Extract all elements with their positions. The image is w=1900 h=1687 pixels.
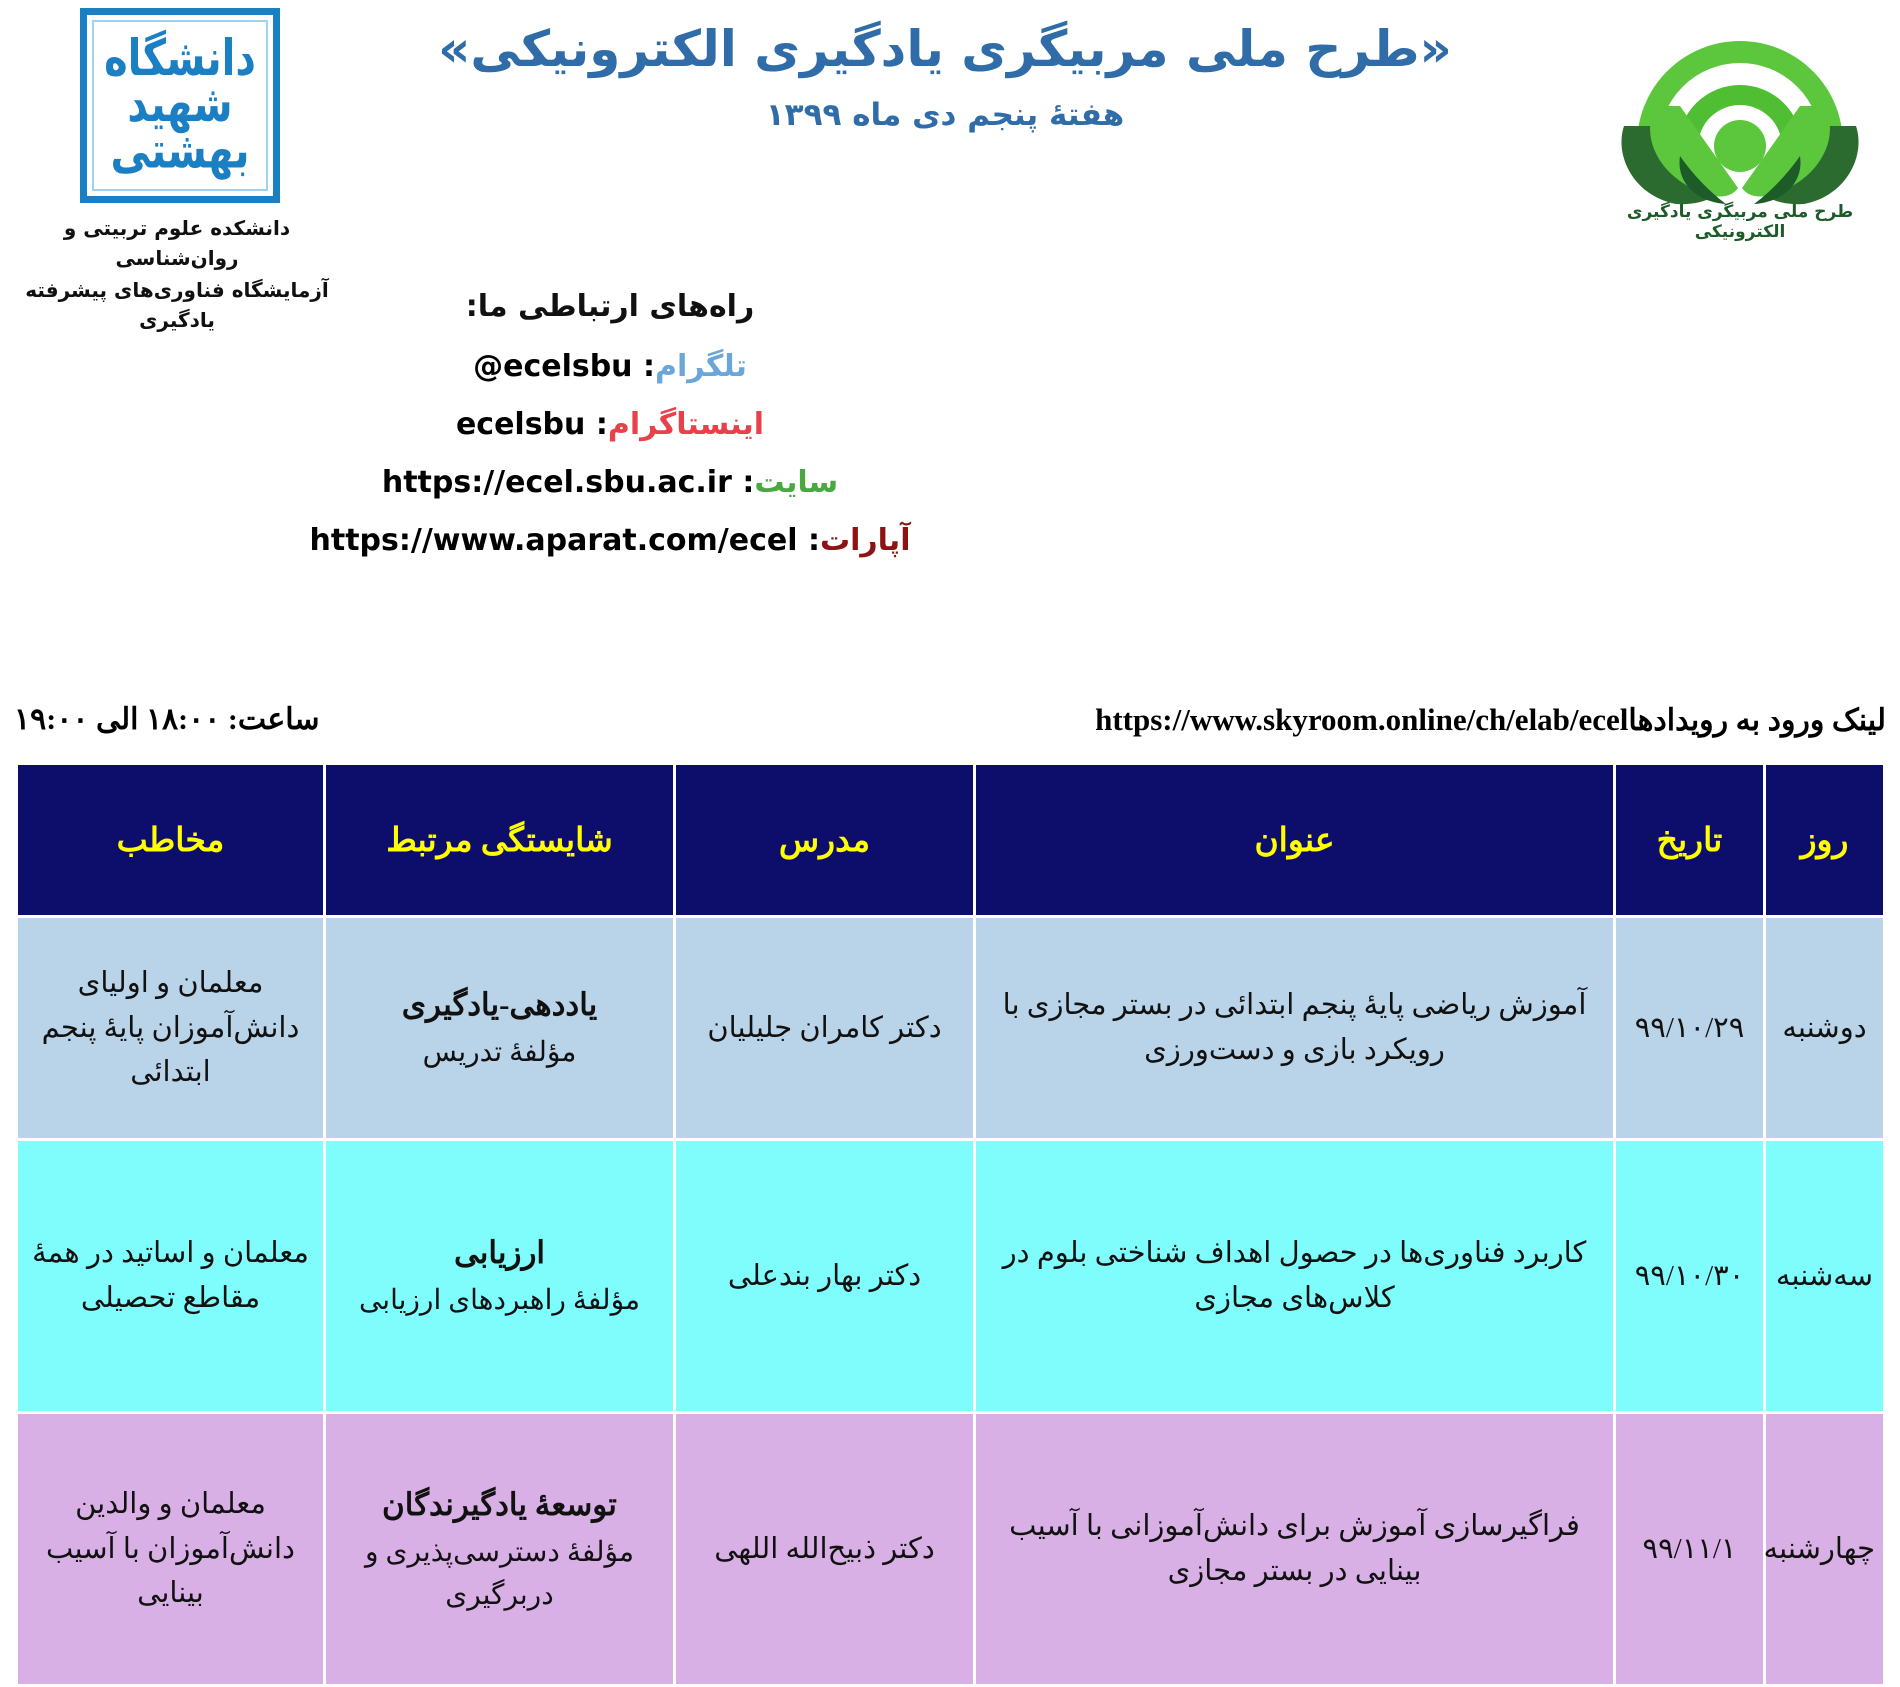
contact-row-instagram: اینستاگرام: ecelsbu <box>0 410 1220 440</box>
competency-main: توسعهٔ یادگیرندگان <box>334 1481 665 1529</box>
contact-row-telegram: تلگرام: @ecelsbu <box>0 352 1220 382</box>
contact-block: راه‌های ارتباطی ما: تلگرام: @ecelsbu این… <box>0 292 1220 584</box>
contact-separator: : <box>742 465 754 500</box>
competency-sub: مؤلفهٔ تدریس <box>334 1031 665 1074</box>
cell-title: آموزش ریاضی پایهٔ پنجم ابتدائی در بستر م… <box>975 917 1615 1140</box>
university-seal-icon: دانشگاه شهید بهشتی <box>80 8 280 203</box>
contact-separator: : <box>808 523 820 558</box>
poster-header: دانشگاه شهید بهشتی دانشکده علوم تربیتی و… <box>0 0 1900 300</box>
session-time-label: ساعت: ۱۸:۰۰ الی ۱۹:۰۰ <box>14 702 320 737</box>
events-link-url[interactable]: https://www.skyroom.online/ch/elab/ecel <box>1095 702 1628 738</box>
contact-separator: : <box>596 407 608 442</box>
competency-sub: مؤلفهٔ راهبردهای ارزیابی <box>334 1279 665 1322</box>
contact-heading: راه‌های ارتباطی ما: <box>0 292 1220 322</box>
column-header-day: روز <box>1765 764 1885 917</box>
cell-competency: توسعهٔ یادگیرندگان مؤلفهٔ دسترسی‌پذیری و… <box>325 1413 675 1686</box>
title-block: «طرح ملی مربیگری یادگیری الکترونیکی» هفت… <box>330 18 1560 133</box>
cell-competency: یاددهی-یادگیری مؤلفهٔ تدریس <box>325 917 675 1140</box>
contact-row-aparat: آپارات: https://www.aparat.com/ecel <box>0 526 1220 556</box>
competency-main: یاددهی-یادگیری <box>334 981 665 1029</box>
contact-value-aparat[interactable]: https://www.aparat.com/ecel <box>310 526 798 556</box>
contact-label-website: سایت <box>754 465 838 500</box>
page-title: «طرح ملی مربیگری یادگیری الکترونیکی» <box>330 18 1560 81</box>
cell-title: فراگیرسازی آموزش برای دانش‌آموزانی با آس… <box>975 1413 1615 1686</box>
ecel-logo-caption: طرح ملی مربیگری یادگیری الکترونیکی <box>1590 202 1890 242</box>
cell-competency: ارزیابی مؤلفهٔ راهبردهای ارزیابی <box>325 1140 675 1413</box>
cell-title: کاربرد فناوری‌ها در حصول اهداف شناختی بل… <box>975 1140 1615 1413</box>
column-header-date: تاریخ <box>1615 764 1765 917</box>
contact-value-website[interactable]: https://ecel.sbu.ac.ir <box>382 468 732 498</box>
contact-separator: : <box>643 349 655 384</box>
ecel-logo-block: طرح ملی مربیگری یادگیری الکترونیکی <box>1590 6 1890 242</box>
events-link-label: لینک ورود به رویدادها <box>1628 704 1886 737</box>
cell-lecturer: دکتر بهار بندعلی <box>675 1140 975 1413</box>
column-header-audience: مخاطب <box>17 764 325 917</box>
table-row: سه‌شنبه ۹۹/۱۰/۳۰ کاربرد فناوری‌ها در حصو… <box>17 1140 1885 1413</box>
cell-day: چهارشنبه <box>1765 1413 1885 1686</box>
cell-audience: معلمان و اساتید در همهٔ مقاطع تحصیلی <box>17 1140 325 1413</box>
cell-day: دوشنبه <box>1765 917 1885 1140</box>
cell-day: سه‌شنبه <box>1765 1140 1885 1413</box>
ecel-broadcast-hands-icon <box>1610 6 1870 206</box>
column-header-competency: شایستگی مرتبط <box>325 764 675 917</box>
table-row: دوشنبه ۹۹/۱۰/۲۹ آموزش ریاضی پایهٔ پنجم ا… <box>17 917 1885 1140</box>
cell-audience: معلمان و والدین دانش‌آموزان با آسیب بینا… <box>17 1413 325 1686</box>
page-subtitle: هفتهٔ پنجم دی ماه ۱۳۹۹ <box>330 97 1560 133</box>
contact-value-instagram[interactable]: ecelsbu <box>456 410 585 440</box>
cell-date: ۹۹/۱۱/۱ <box>1615 1413 1765 1686</box>
cell-audience: معلمان و اولیای دانش‌آموزان پایهٔ پنجم ا… <box>17 917 325 1140</box>
link-and-time-bar: لینک ورود به رویدادهاhttps://www.skyroom… <box>0 700 1900 762</box>
contact-row-website: سایت: https://ecel.sbu.ac.ir <box>0 468 1220 498</box>
cell-lecturer: دکتر کامران جلیلیان <box>675 917 975 1140</box>
schedule-table-body: دوشنبه ۹۹/۱۰/۲۹ آموزش ریاضی پایهٔ پنجم ا… <box>17 917 1885 1686</box>
schedule-table: روز تاریخ عنوان مدرس شایستگی مرتبط مخاطب… <box>15 762 1886 1687</box>
contact-value-telegram[interactable]: @ecelsbu <box>473 352 632 382</box>
cell-lecturer: دکتر ذبیح‌الله اللهی <box>675 1413 975 1686</box>
table-header-row: روز تاریخ عنوان مدرس شایستگی مرتبط مخاطب <box>17 764 1885 917</box>
competency-sub: مؤلفهٔ دسترسی‌پذیری و دربرگیری <box>334 1531 665 1618</box>
table-row: چهارشنبه ۹۹/۱۱/۱ فراگیرسازی آموزش برای د… <box>17 1413 1885 1686</box>
contact-label-instagram: اینستاگرام <box>608 407 764 442</box>
events-link-group: لینک ورود به رویدادهاhttps://www.skyroom… <box>1081 702 1886 738</box>
schedule-table-wrapper: روز تاریخ عنوان مدرس شایستگی مرتبط مخاطب… <box>18 762 1886 1687</box>
column-header-lecturer: مدرس <box>675 764 975 917</box>
column-header-title: عنوان <box>975 764 1615 917</box>
contact-label-telegram: تلگرام <box>655 349 747 384</box>
cell-date: ۹۹/۱۰/۳۰ <box>1615 1140 1765 1413</box>
competency-main: ارزیابی <box>334 1229 665 1277</box>
university-seal-text: دانشگاه شهید بهشتی <box>94 36 266 174</box>
cell-date: ۹۹/۱۰/۲۹ <box>1615 917 1765 1140</box>
university-logo-block: دانشگاه شهید بهشتی دانشکده علوم تربیتی و… <box>0 8 360 335</box>
faculty-name-line-1: دانشکده علوم تربیتی و روان‌شناسی <box>0 213 360 273</box>
schedule-table-head: روز تاریخ عنوان مدرس شایستگی مرتبط مخاطب <box>17 764 1885 917</box>
contact-label-aparat: آپارات <box>820 523 911 558</box>
